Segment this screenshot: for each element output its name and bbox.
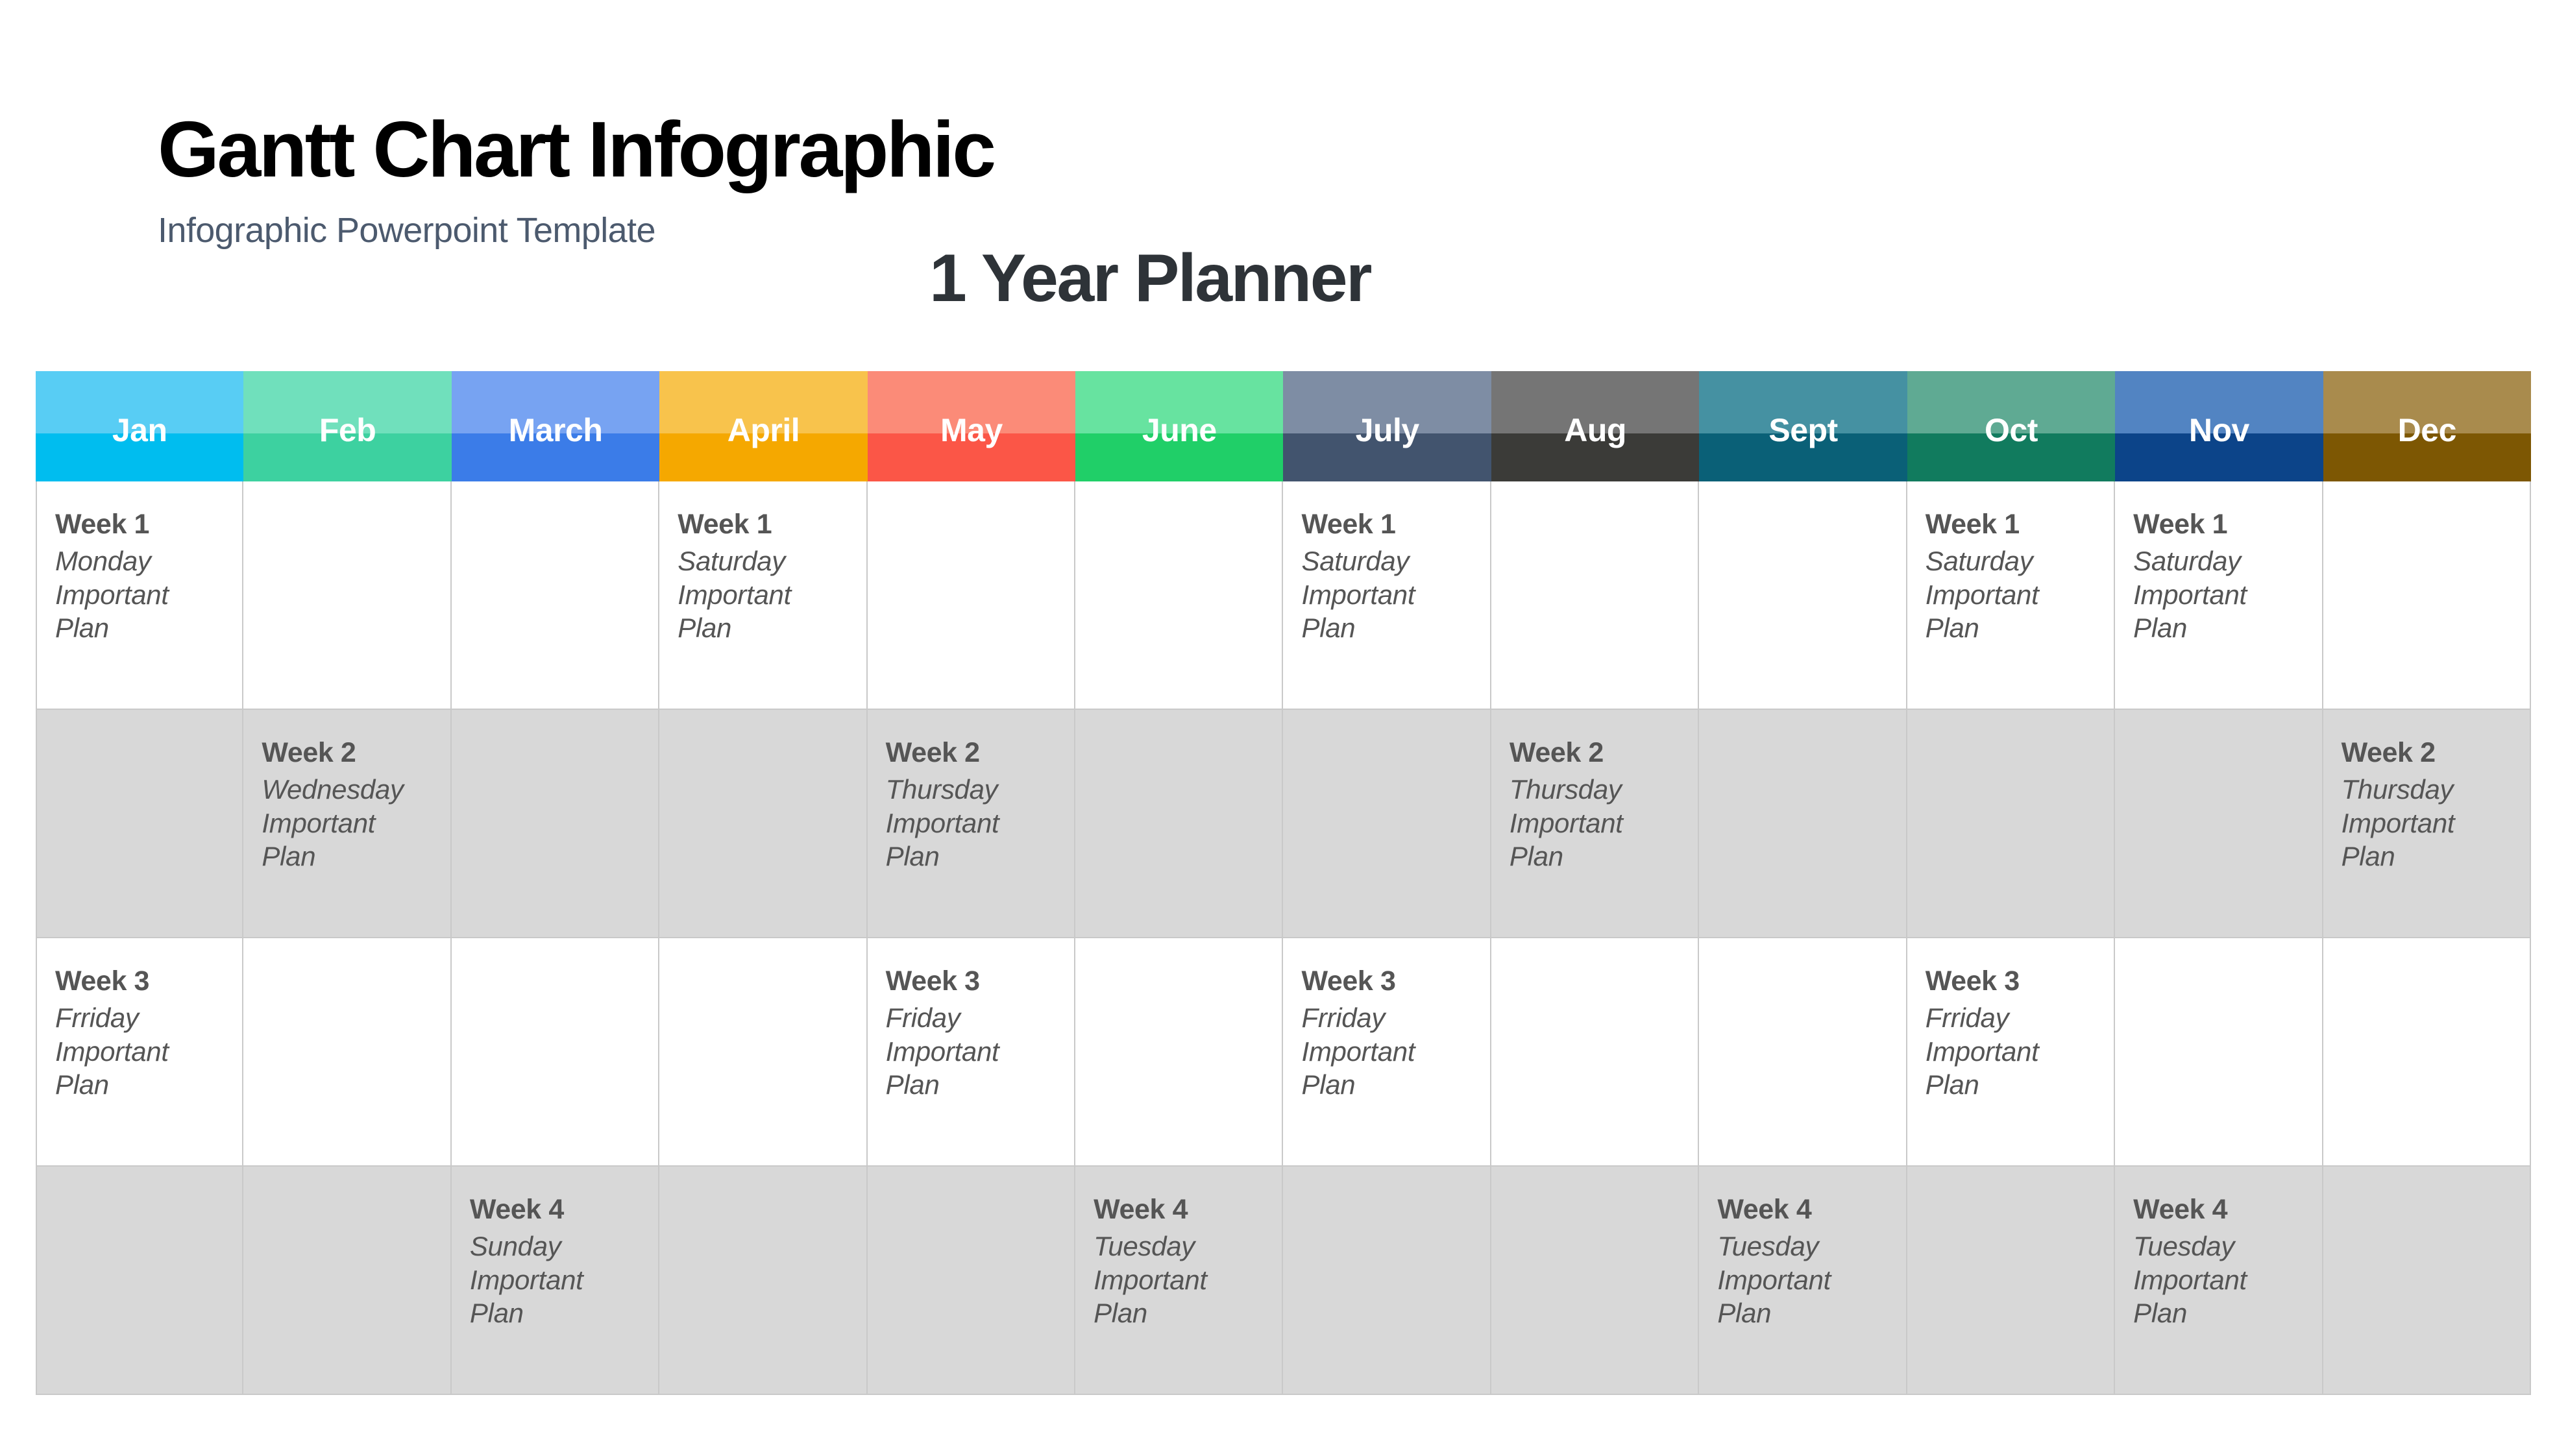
week-cell-empty[interactable]: [452, 481, 659, 710]
week-cell-filled[interactable]: Week 3FridayImportantPlan: [868, 938, 1075, 1167]
week-detail: WednesdayImportantPlan: [262, 773, 450, 873]
week-detail-line: Monday: [55, 544, 242, 577]
month-header-row: JanFebMarchAprilMayJuneJulyAugSeptOctNov…: [36, 371, 2531, 481]
week-detail: TuesdayImportantPlan: [1094, 1230, 1282, 1329]
week-label: Week 1: [1301, 509, 1489, 540]
table-row: Week 1MondayImportantPlanWeek 1SaturdayI…: [36, 481, 2531, 710]
week-detail: FrridayImportantPlan: [1926, 1001, 2114, 1101]
week-detail-line: Plan: [1717, 1296, 1905, 1329]
week-detail: FridayImportantPlan: [886, 1001, 1074, 1101]
week-cell-empty[interactable]: [659, 938, 867, 1167]
month-header-june[interactable]: June: [1075, 371, 1283, 481]
week-cell-empty[interactable]: [2323, 938, 2531, 1167]
week-label: Week 1: [678, 509, 866, 540]
week-cell-filled[interactable]: Week 3FrridayImportantPlan: [1283, 938, 1491, 1167]
week-detail-line: Plan: [886, 840, 1074, 873]
page-subtitle: Infographic Powerpoint Template: [158, 210, 994, 250]
gantt-body: Week 1MondayImportantPlanWeek 1SaturdayI…: [36, 481, 2531, 1395]
week-cell-empty[interactable]: [868, 1167, 1075, 1395]
week-detail-line: Saturday: [2133, 544, 2321, 577]
week-detail-line: Saturday: [1926, 544, 2114, 577]
week-detail-line: Important: [2342, 807, 2530, 840]
week-detail: MondayImportantPlan: [55, 544, 242, 644]
week-cell-empty[interactable]: [1491, 938, 1699, 1167]
week-detail-line: Thursday: [1510, 773, 1698, 806]
week-cell-filled[interactable]: Week 2ThursdayImportantPlan: [1491, 710, 1699, 938]
week-cell-empty[interactable]: [659, 710, 867, 938]
month-header-label: March: [509, 414, 603, 446]
week-cell-filled[interactable]: Week 2ThursdayImportantPlan: [2323, 710, 2531, 938]
week-cell-filled[interactable]: Week 3FrridayImportantPlan: [1907, 938, 2115, 1167]
week-detail-line: Important: [1926, 578, 2114, 611]
month-header-label: June: [1142, 414, 1217, 446]
week-cell-empty[interactable]: [243, 1167, 451, 1395]
week-label: Week 2: [262, 737, 450, 769]
week-label: Week 3: [1926, 965, 2114, 997]
week-detail-line: Important: [1926, 1035, 2114, 1068]
week-cell-filled[interactable]: Week 1SaturdayImportantPlan: [1907, 481, 2115, 710]
week-cell-filled[interactable]: Week 4SundayImportantPlan: [452, 1167, 659, 1395]
week-detail-line: Important: [2133, 1263, 2321, 1296]
week-detail-line: Saturday: [678, 544, 866, 577]
week-detail: SaturdayImportantPlan: [678, 544, 866, 644]
week-detail-line: Important: [886, 807, 1074, 840]
week-label: Week 3: [1301, 965, 1489, 997]
week-detail-line: Plan: [1301, 1068, 1489, 1101]
week-detail-line: Friday: [886, 1001, 1074, 1034]
week-detail-line: Important: [886, 1035, 1074, 1068]
week-cell-empty[interactable]: [1699, 481, 1907, 710]
month-header-label: Feb: [319, 414, 376, 446]
week-cell-empty[interactable]: [1491, 481, 1699, 710]
week-cell-filled[interactable]: Week 4TuesdayImportantPlan: [2115, 1167, 2323, 1395]
week-cell-empty[interactable]: [36, 1167, 243, 1395]
week-detail-line: Saturday: [1301, 544, 1489, 577]
week-cell-empty[interactable]: [2115, 710, 2323, 938]
week-cell-empty[interactable]: [1491, 1167, 1699, 1395]
week-detail: FrridayImportantPlan: [1301, 1001, 1489, 1101]
week-cell-empty[interactable]: [1283, 710, 1491, 938]
week-label: Week 1: [55, 509, 242, 540]
week-detail-line: Tuesday: [2133, 1230, 2321, 1263]
week-detail: SaturdayImportantPlan: [1926, 544, 2114, 644]
month-header-oct[interactable]: Oct: [1907, 371, 2115, 481]
week-cell-filled[interactable]: Week 2WednesdayImportantPlan: [243, 710, 451, 938]
week-label: Week 1: [1926, 509, 2114, 540]
week-detail: ThursdayImportantPlan: [2342, 773, 2530, 873]
week-cell-empty[interactable]: [1283, 1167, 1491, 1395]
month-header-label: Sept: [1768, 414, 1837, 446]
week-detail: ThursdayImportantPlan: [886, 773, 1074, 873]
week-detail-line: Wednesday: [262, 773, 450, 806]
month-header-label: Dec: [2398, 414, 2456, 446]
week-cell-empty[interactable]: [1075, 938, 1283, 1167]
title-block: Gantt Chart Infographic Infographic Powe…: [158, 109, 994, 250]
week-detail-line: Plan: [55, 611, 242, 644]
slide-canvas: Gantt Chart Infographic Infographic Powe…: [0, 0, 2568, 1456]
week-cell-empty[interactable]: [2323, 1167, 2531, 1395]
page-title: Gantt Chart Infographic: [158, 109, 994, 189]
week-detail-line: Plan: [1094, 1296, 1282, 1329]
month-header-jan[interactable]: Jan: [36, 371, 243, 481]
week-detail: SaturdayImportantPlan: [2133, 544, 2321, 644]
week-detail-line: Important: [1510, 807, 1698, 840]
gantt-table: JanFebMarchAprilMayJuneJulyAugSeptOctNov…: [36, 371, 2531, 1396]
week-detail: SundayImportantPlan: [470, 1230, 658, 1329]
month-header-april[interactable]: April: [659, 371, 867, 481]
week-cell-empty[interactable]: [1699, 938, 1907, 1167]
week-cell-empty[interactable]: [1907, 710, 2115, 938]
month-header-may[interactable]: May: [868, 371, 1075, 481]
week-label: Week 3: [55, 965, 242, 997]
week-detail-line: Thursday: [886, 773, 1074, 806]
month-header-march[interactable]: March: [452, 371, 659, 481]
week-label: Week 1: [2133, 509, 2321, 540]
week-label: Week 2: [2342, 737, 2530, 769]
table-row: Week 3FrridayImportantPlanWeek 3FridayIm…: [36, 938, 2531, 1167]
week-detail-line: Plan: [2133, 611, 2321, 644]
table-row: Week 4SundayImportantPlanWeek 4TuesdayIm…: [36, 1167, 2531, 1395]
week-detail-line: Plan: [1510, 840, 1698, 873]
week-label: Week 4: [1094, 1194, 1282, 1226]
table-row: Week 2WednesdayImportantPlanWeek 2Thursd…: [36, 710, 2531, 938]
week-cell-empty[interactable]: [1907, 1167, 2115, 1395]
week-detail-line: Important: [55, 1035, 242, 1068]
month-header-label: Aug: [1564, 414, 1626, 446]
week-cell-empty[interactable]: [2115, 938, 2323, 1167]
week-detail-line: Important: [1094, 1263, 1282, 1296]
month-header-nov[interactable]: Nov: [2115, 371, 2323, 481]
week-cell-filled[interactable]: Week 1SaturdayImportantPlan: [1283, 481, 1491, 710]
week-detail-line: Frriday: [1301, 1001, 1489, 1034]
month-header-label: Jan: [112, 414, 167, 446]
month-header-dec[interactable]: Dec: [2323, 371, 2531, 481]
planner-title: 1 Year Planner: [929, 240, 1371, 317]
week-detail-line: Plan: [2133, 1296, 2321, 1329]
week-label: Week 2: [1510, 737, 1698, 769]
week-cell-empty[interactable]: [1075, 710, 1283, 938]
week-detail-line: Sunday: [470, 1230, 658, 1263]
week-detail-line: Important: [470, 1263, 658, 1296]
week-detail-line: Plan: [470, 1296, 658, 1329]
week-cell-filled[interactable]: Week 2ThursdayImportantPlan: [868, 710, 1075, 938]
week-cell-empty[interactable]: [452, 710, 659, 938]
week-cell-empty[interactable]: [243, 938, 451, 1167]
week-detail: SaturdayImportantPlan: [1301, 544, 1489, 644]
week-detail-line: Important: [262, 807, 450, 840]
week-label: Week 4: [1717, 1194, 1905, 1226]
month-header-label: April: [728, 414, 800, 446]
week-cell-empty[interactable]: [243, 481, 451, 710]
week-cell-filled[interactable]: Week 3FrridayImportantPlan: [36, 938, 243, 1167]
week-cell-filled[interactable]: Week 1SaturdayImportantPlan: [659, 481, 867, 710]
week-detail: TuesdayImportantPlan: [2133, 1230, 2321, 1329]
week-detail-line: Frriday: [1926, 1001, 2114, 1034]
week-cell-empty[interactable]: [659, 1167, 867, 1395]
week-detail-line: Important: [1301, 578, 1489, 611]
week-cell-filled[interactable]: Week 1MondayImportantPlan: [36, 481, 243, 710]
week-label: Week 4: [470, 1194, 658, 1226]
month-header-sept[interactable]: Sept: [1699, 371, 1907, 481]
week-cell-empty[interactable]: [1075, 481, 1283, 710]
week-label: Week 4: [2133, 1194, 2321, 1226]
week-cell-empty[interactable]: [452, 938, 659, 1167]
week-detail-line: Important: [1301, 1035, 1489, 1068]
week-cell-empty[interactable]: [2323, 481, 2531, 710]
month-header-aug[interactable]: Aug: [1491, 371, 1699, 481]
week-detail-line: Important: [678, 578, 866, 611]
week-cell-empty[interactable]: [36, 710, 243, 938]
week-detail: ThursdayImportantPlan: [1510, 773, 1698, 873]
week-detail-line: Thursday: [2342, 773, 2530, 806]
month-header-label: Oct: [1985, 414, 2038, 446]
month-header-label: May: [940, 414, 1003, 446]
week-cell-filled[interactable]: Week 4TuesdayImportantPlan: [1075, 1167, 1283, 1395]
month-header-label: Nov: [2189, 414, 2249, 446]
week-detail-line: Important: [1717, 1263, 1905, 1296]
week-detail-line: Plan: [678, 611, 866, 644]
month-header-feb[interactable]: Feb: [243, 371, 451, 481]
week-detail-line: Plan: [1926, 1068, 2114, 1101]
week-detail-line: Tuesday: [1717, 1230, 1905, 1263]
week-cell-empty[interactable]: [868, 481, 1075, 710]
week-cell-filled[interactable]: Week 1SaturdayImportantPlan: [2115, 481, 2323, 710]
week-detail: TuesdayImportantPlan: [1717, 1230, 1905, 1329]
week-label: Week 2: [886, 737, 1074, 769]
week-detail-line: Plan: [886, 1068, 1074, 1101]
week-detail-line: Tuesday: [1094, 1230, 1282, 1263]
week-detail-line: Plan: [262, 840, 450, 873]
week-detail-line: Important: [2133, 578, 2321, 611]
week-cell-empty[interactable]: [1699, 710, 1907, 938]
week-detail-line: Plan: [2342, 840, 2530, 873]
week-detail-line: Plan: [55, 1068, 242, 1101]
week-cell-filled[interactable]: Week 4TuesdayImportantPlan: [1699, 1167, 1907, 1395]
month-header-july[interactable]: July: [1283, 371, 1491, 481]
week-detail-line: Important: [55, 578, 242, 611]
week-detail-line: Frriday: [55, 1001, 242, 1034]
month-header-label: July: [1356, 414, 1419, 446]
week-detail: FrridayImportantPlan: [55, 1001, 242, 1101]
week-label: Week 3: [886, 965, 1074, 997]
week-detail-line: Plan: [1301, 611, 1489, 644]
week-detail-line: Plan: [1926, 611, 2114, 644]
